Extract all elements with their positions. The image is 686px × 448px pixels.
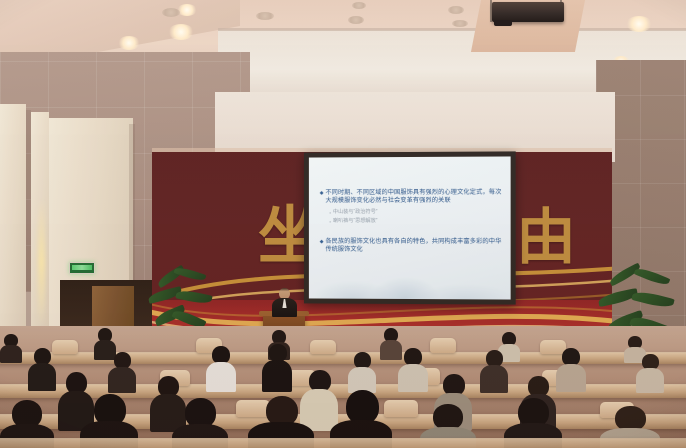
head (346, 390, 379, 424)
torso (28, 363, 56, 391)
torso (398, 364, 428, 392)
desk-row-front (0, 438, 686, 448)
audience-member (398, 348, 428, 392)
slide-surface: ◆ 不同时期、不同区域的中国服饰具有强烈的心理文化定式，每次大规模服饰变化必然与… (309, 156, 511, 299)
ceiling-edge-trim (218, 28, 686, 31)
lecture-hall-photo: 坐 由 ◆ 不同时期、不同区域的中国服饰具有强烈的心理文化定式，每次大规模服饰变… (0, 0, 686, 448)
torso (556, 364, 586, 392)
torso (636, 368, 664, 393)
wall-accent-light (38, 200, 45, 325)
audience-member (348, 352, 376, 392)
slide-sub-bullets: ▪ 中山装与“政治符号” ▪ 喇叭裤与“思想解放” (330, 209, 502, 225)
leaf (631, 289, 674, 310)
audience-member (108, 352, 136, 392)
bullet-marker-icon-2: ◆ (320, 238, 324, 246)
audience-member (480, 350, 508, 392)
chair (310, 340, 336, 354)
ceiling-vent-4 (448, 6, 464, 14)
downlight-3 (118, 36, 140, 50)
sub-bullet-marker-icon-2: ▪ (330, 218, 331, 225)
torso (0, 345, 22, 363)
audience-member (636, 354, 664, 392)
slide-bullet-1-text: 不同时期、不同区域的中国服饰具有强烈的心理文化定式，每次大规模服饰变化必然与社会… (325, 189, 501, 206)
exit-sign (69, 262, 95, 274)
pilaster-1 (0, 104, 26, 336)
slide-content: ◆ 不同时期、不同区域的中国服饰具有强烈的心理文化定式，每次大规模服饰变化必然与… (320, 189, 502, 259)
ceiling-projector (492, 2, 564, 22)
torso (108, 367, 136, 393)
audience-member (28, 348, 56, 390)
slide-bullet-2: ◆ 各民族的服饰文化也具有各自的特色，共同构成丰富多彩的中华传统服饰文化 (320, 238, 502, 255)
leaf (174, 265, 207, 282)
ceiling-vent-3 (348, 16, 364, 24)
torso (480, 365, 508, 393)
audience-area: Fashion (0, 326, 686, 448)
audience-member (206, 346, 236, 392)
sub-bullet-marker-icon: ▪ (330, 210, 331, 217)
downlight-2 (177, 4, 197, 16)
slide-mountain-watermark (309, 253, 511, 300)
ceiling-vent-5 (452, 20, 468, 27)
slide-sub-bullet-1: ▪ 中山装与“政治符号” (330, 209, 502, 216)
ceiling-vent-1 (162, 8, 180, 17)
bullet-marker-icon: ◆ (320, 189, 324, 197)
slide-bullet-1: ◆ 不同时期、不同区域的中国服饰具有强烈的心理文化定式，每次大规模服饰变化必然与… (320, 189, 502, 206)
chair (430, 338, 456, 353)
audience-member (262, 344, 292, 392)
projection-screen: ◆ 不同时期、不同区域的中国服饰具有强烈的心理文化定式，每次大规模服饰变化必然与… (304, 151, 516, 304)
downlight-5 (626, 16, 652, 32)
ceiling-vent-6 (352, 2, 366, 9)
audience-member (0, 334, 22, 362)
slide-sub-bullet-2-text: 喇叭裤与“思想解放” (333, 218, 378, 225)
speaker (270, 288, 298, 316)
projector-lens (494, 20, 512, 26)
slide-sub-bullet-1-text: 中山装与“政治符号” (333, 209, 378, 216)
ceiling-vent-2 (256, 12, 274, 20)
leaf (175, 288, 212, 305)
backdrop-character-right: 由 (516, 208, 576, 268)
slide-sub-bullet-2: ▪ 喇叭裤与“思想解放” (330, 218, 502, 225)
torso (206, 362, 236, 392)
downlight-1 (168, 24, 194, 40)
leaf (634, 266, 671, 288)
torso (262, 360, 292, 392)
audience-member (556, 348, 586, 392)
slide-bullet-2-text: 各民族的服饰文化也具有各自的特色，共同构成丰富多彩的中华传统服饰文化 (325, 238, 501, 255)
